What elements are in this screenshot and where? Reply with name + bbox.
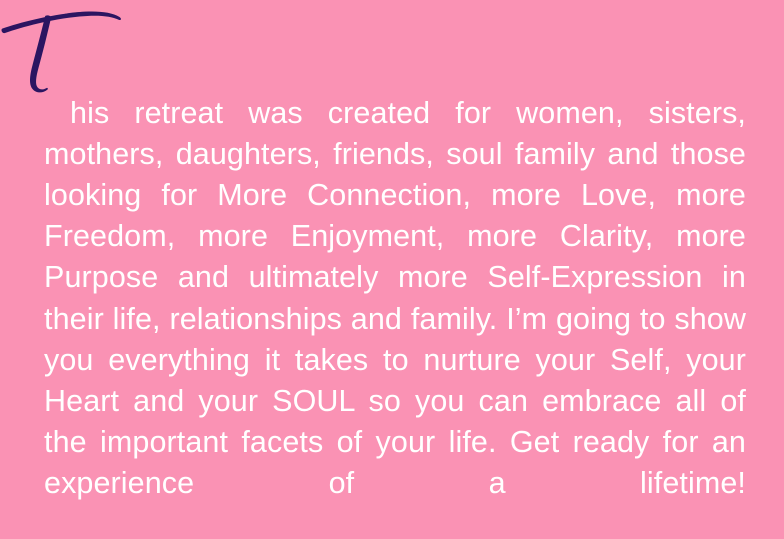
dropcap-indent-spacer — [44, 122, 70, 123]
dropcap-letter-T-glyph — [2, 12, 121, 93]
retreat-text-card: his retreat was created for women, siste… — [0, 0, 784, 539]
retreat-paragraph-text: his retreat was created for women, siste… — [44, 96, 755, 501]
dropcap-T-decoration — [0, 0, 130, 100]
retreat-paragraph: his retreat was created for women, siste… — [44, 93, 746, 539]
